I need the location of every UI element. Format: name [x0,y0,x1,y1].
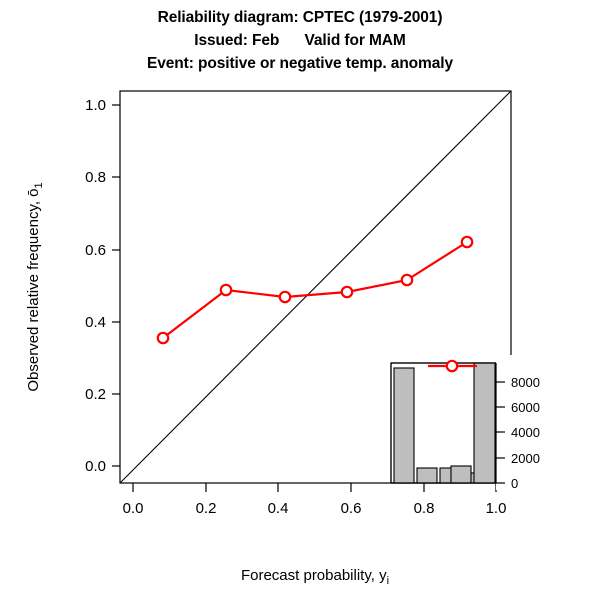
x-axis-ticks [133,483,496,492]
y-tick-label-4: 0.8 [85,169,106,186]
inset-data-point-marker [447,361,457,371]
inset-tick-label-4: 8000 [511,375,540,390]
reliability-curve-markers [158,237,472,343]
inset-tick-label-3: 6000 [511,400,540,415]
x-axis-title: Forecast probability, yi [241,567,389,587]
x-tick-label-4: 0.8 [414,500,435,517]
y-axis-title: Observed relative frequency, ō1 [25,182,45,391]
plot-canvas: 0.0 0.2 0.4 0.6 0.8 1.0 0.0 0.2 0.4 0.6 … [0,0,600,600]
inset-bar [474,363,495,483]
data-point-marker [158,333,168,343]
y-tick-label-1: 0.2 [85,386,106,403]
y-tick-label-3: 0.6 [85,242,106,259]
inset-bar [451,466,471,483]
x-tick-label-0: 0.0 [123,500,144,517]
inset-tick-label-2: 4000 [511,425,540,440]
y-tick-label-5: 1.0 [85,97,106,114]
reliability-diagram-figure: Reliability diagram: CPTEC (1979-2001) I… [0,0,600,600]
inset-sharpness-histogram: 0 2000 4000 6000 8000 [391,355,556,491]
x-tick-label-5: 1.0 [486,500,507,517]
x-tick-label-3: 0.6 [341,500,362,517]
perfect-reliability-diagonal [120,91,511,483]
svg-text:Observed relative frequency, o: Observed relative frequency, ō1 [25,182,45,391]
data-point-marker [280,292,290,302]
inset-bar [394,368,414,483]
x-axis-tick-labels: 0.0 0.2 0.4 0.6 0.8 1.0 [123,500,507,517]
y-axis-ticks [112,105,120,466]
y-tick-label-0: 0.0 [85,458,106,475]
reliability-curve-line [163,242,467,338]
data-point-marker [462,237,472,247]
data-point-marker [221,285,231,295]
inset-tick-label-0: 0 [511,476,518,491]
data-point-marker [342,287,352,297]
y-tick-label-2: 0.4 [85,314,106,331]
inset-bar [417,468,437,483]
inset-tick-label-1: 2000 [511,451,540,466]
y-axis-tick-labels: 0.0 0.2 0.4 0.6 0.8 1.0 [85,97,106,475]
data-point-marker [402,275,412,285]
x-tick-label-2: 0.4 [268,500,289,517]
inset-bars-right [451,363,495,483]
x-tick-label-1: 0.2 [196,500,217,517]
